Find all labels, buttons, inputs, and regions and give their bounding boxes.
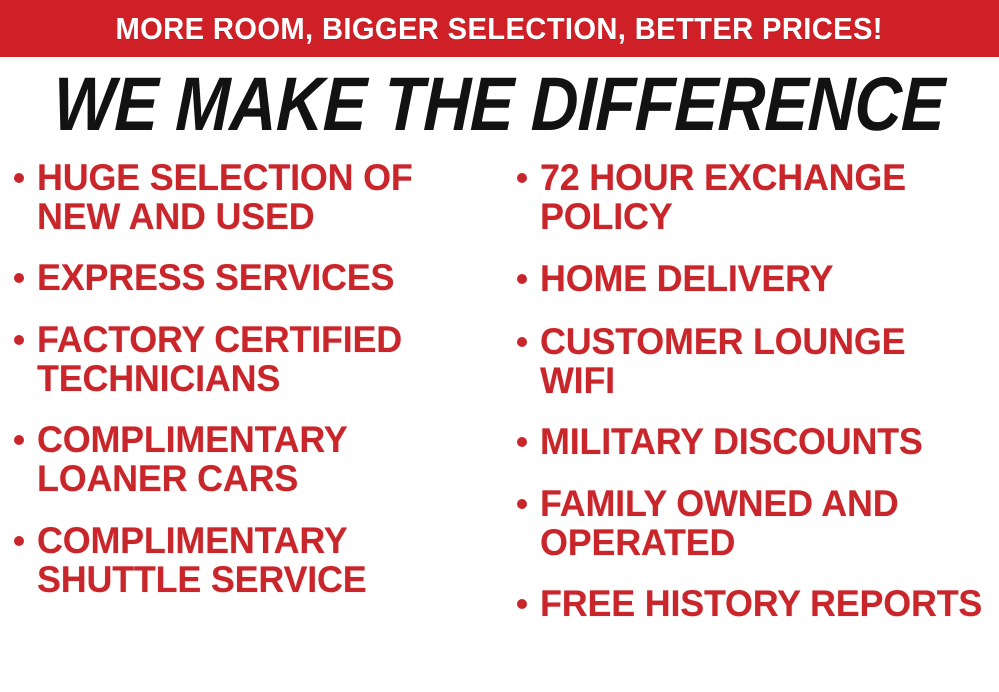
list-item: 72 HOUR EXCHANGE POLICY (517, 158, 997, 236)
list-item-label: HOME DELIVERY (540, 259, 833, 298)
advertisement-banner: MORE ROOM, BIGGER SELECTION, BETTER PRIC… (0, 0, 999, 692)
features-column-left: HUGE SELECTION OF NEW AND USED EXPRESS S… (0, 158, 500, 623)
list-item-label: CUSTOMER LOUNGE WIFI (540, 322, 983, 400)
bullet-dot-icon (517, 274, 527, 284)
list-item-label: EXPRESS SERVICES (37, 258, 394, 297)
list-item-label: 72 HOUR EXCHANGE POLICY (540, 158, 983, 236)
list-item: FAMILY OWNED AND OPERATED (517, 484, 997, 562)
bullet-dot-icon (517, 599, 527, 609)
bullet-dot-icon (517, 437, 527, 447)
features-columns: HUGE SELECTION OF NEW AND USED EXPRESS S… (0, 158, 999, 692)
list-item-label: FACTORY CERTIFIED TECHNICIANS (37, 320, 482, 398)
list-item-label: HUGE SELECTION OF NEW AND USED (37, 158, 482, 236)
list-item-label: FREE HISTORY REPORTS (540, 584, 982, 623)
bullet-dot-icon (517, 173, 527, 183)
list-item: EXPRESS SERVICES (14, 258, 496, 297)
bullet-dot-icon (14, 335, 24, 345)
list-item: HOME DELIVERY (517, 259, 997, 298)
list-item-label: FAMILY OWNED AND OPERATED (540, 484, 983, 562)
bullet-dot-icon (517, 499, 527, 509)
bullet-dot-icon (14, 173, 24, 183)
headline-container: WE MAKE THE DIFFERENCE (0, 66, 999, 144)
top-promo-banner-text: MORE ROOM, BIGGER SELECTION, BETTER PRIC… (116, 13, 883, 44)
top-promo-banner: MORE ROOM, BIGGER SELECTION, BETTER PRIC… (0, 0, 999, 57)
list-item: FREE HISTORY REPORTS (517, 584, 997, 623)
bullet-dot-icon (14, 536, 24, 546)
bullet-dot-icon (14, 435, 24, 445)
list-item: COMPLIMENTARY SHUTTLE SERVICE (14, 521, 496, 599)
features-column-right: 72 HOUR EXCHANGE POLICY HOME DELIVERY CU… (500, 158, 999, 647)
bullet-dot-icon (517, 337, 527, 347)
bullet-dot-icon (14, 273, 24, 283)
list-item: HUGE SELECTION OF NEW AND USED (14, 158, 496, 236)
list-item: MILITARY DISCOUNTS (517, 422, 997, 461)
list-item: CUSTOMER LOUNGE WIFI (517, 322, 997, 400)
list-item: COMPLIMENTARY LOANER CARS (14, 420, 496, 498)
list-item-label: COMPLIMENTARY SHUTTLE SERVICE (37, 521, 482, 599)
list-item-label: MILITARY DISCOUNTS (540, 422, 923, 461)
list-item-label: COMPLIMENTARY LOANER CARS (37, 420, 482, 498)
list-item: FACTORY CERTIFIED TECHNICIANS (14, 320, 496, 398)
page-title: WE MAKE THE DIFFERENCE (53, 67, 946, 143)
